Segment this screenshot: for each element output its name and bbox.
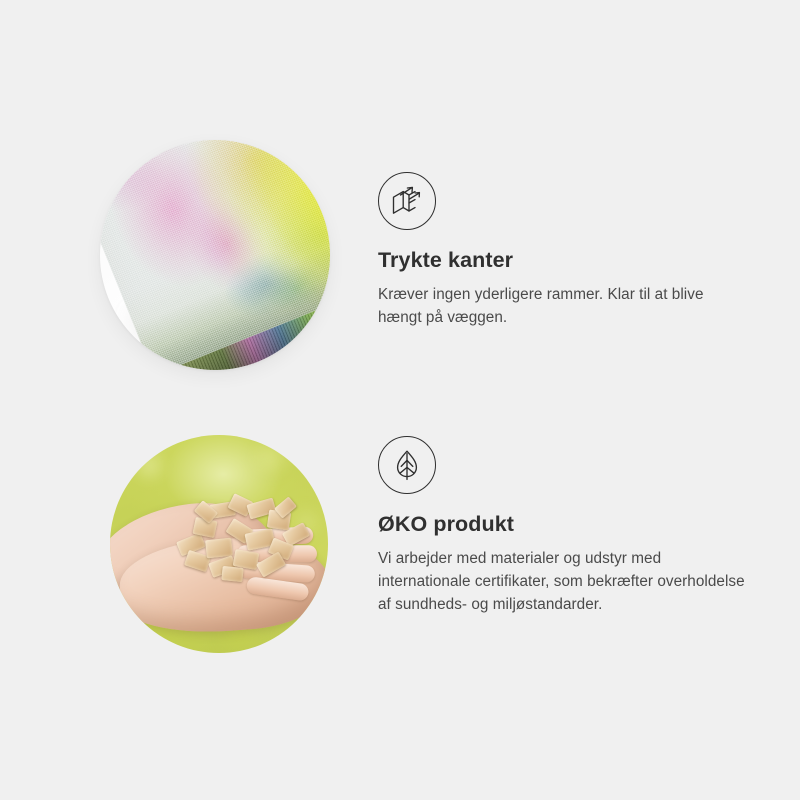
- wood-chip-pile: [172, 493, 308, 585]
- feature-title-eco-product: ØKO produkt: [378, 512, 758, 538]
- canvas-corner-photo: [100, 140, 330, 370]
- feature-title-printed-edges: Trykte kanter: [378, 248, 758, 274]
- feature-description-eco-product: Vi arbejder med materialer og udstyr med…: [378, 547, 750, 617]
- feature-list-page: Trykte kanter Kræver ingen yderligere ra…: [0, 0, 800, 800]
- leaf-icon: [378, 436, 436, 494]
- feature-description-printed-edges: Kræver ingen yderligere rammer. Klar til…: [378, 283, 750, 330]
- eco-product-text-column: ØKO produkt Vi arbejder med materialer o…: [378, 436, 758, 617]
- wood-chips-hands-photo: [110, 435, 328, 653]
- printed-edges-text-column: Trykte kanter Kræver ingen yderligere ra…: [378, 172, 758, 329]
- wrapped-canvas-edge-icon: [378, 172, 436, 230]
